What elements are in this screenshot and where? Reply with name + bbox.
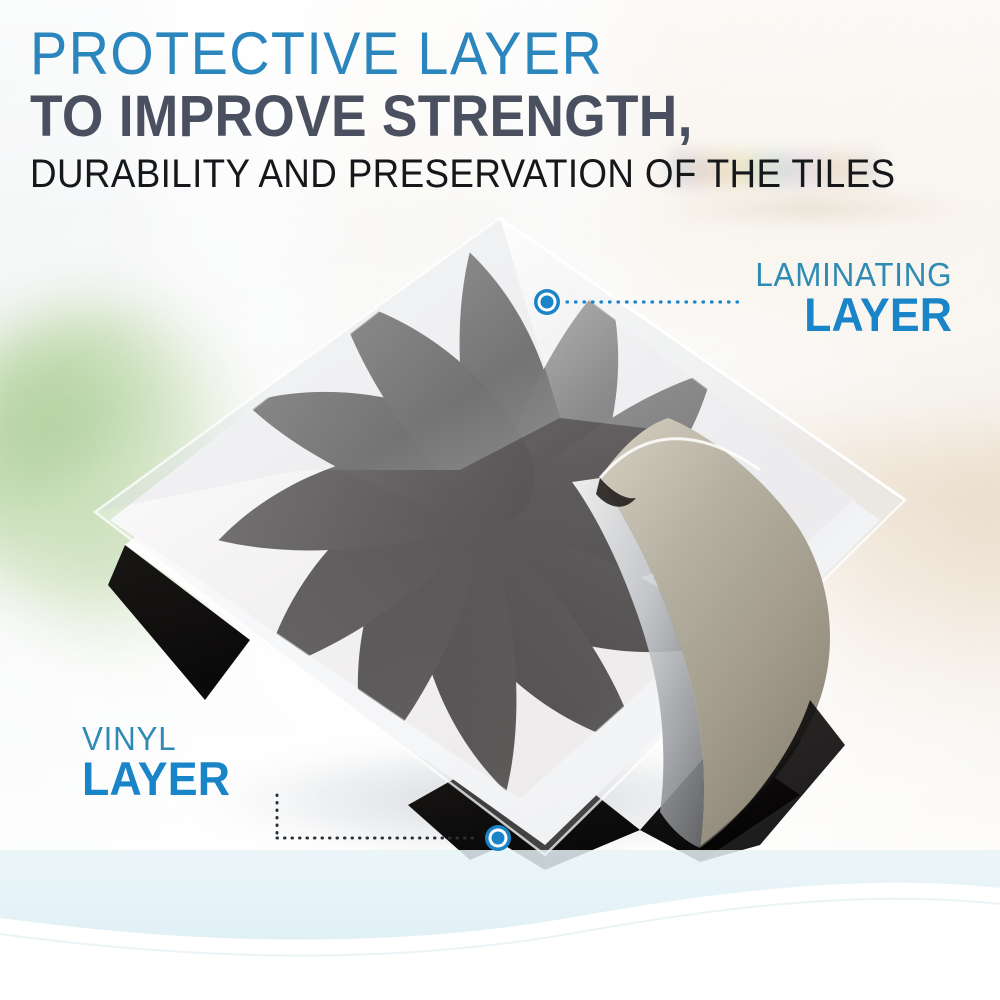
bottom-wave-decoration xyxy=(0,830,1000,1000)
callout-vinyl-small-label: VINYL xyxy=(82,722,230,755)
headline-block: PROTECTIVE LAYER TO IMPROVE STRENGTH, DU… xyxy=(30,24,971,196)
callout-vinyl-layer: VINYL LAYER xyxy=(82,722,238,803)
callout-laminating-big-label: LAYER xyxy=(755,291,952,339)
callout-laminating-layer: LAMINATING LAYER xyxy=(745,258,952,339)
callout-laminating-small-label: LAMINATING xyxy=(755,258,952,291)
callout-vinyl-big-label: LAYER xyxy=(82,755,230,803)
headline-line-1: PROTECTIVE LAYER xyxy=(30,24,905,84)
headline-line-3: DURABILITY AND PRESERVATION OF THE TILES xyxy=(30,152,895,196)
headline-line-2: TO IMPROVE STRENGTH, xyxy=(30,86,895,148)
infographic-canvas: PROTECTIVE LAYER TO IMPROVE STRENGTH, DU… xyxy=(0,0,1000,1000)
